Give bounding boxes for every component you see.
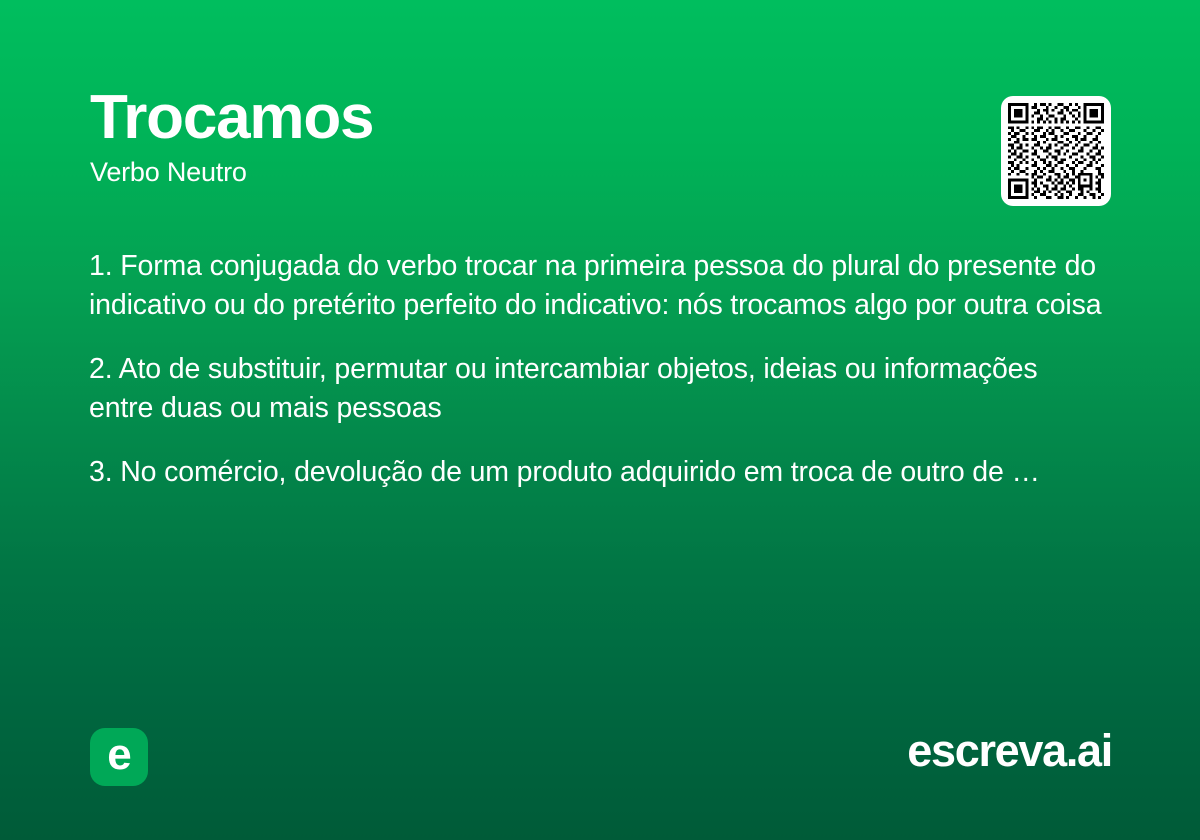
definition-item-2: 2. Ato de substituir, permutar ou interc… [89,350,1105,428]
qr-code-icon [1008,103,1104,199]
brand-wordmark: escreva.ai [907,724,1112,778]
escreva-logo-badge: e [90,728,148,786]
word-class-label: Verbo Neutro [90,158,1110,188]
dictionary-card: Trocamos Verbo Neutro [0,0,1200,840]
definition-list: 1. Forma conjugada do verbo trocar na pr… [89,247,1105,492]
definition-item-3: 3. No comércio, devolução de um produto … [89,453,1105,492]
card-footer: e escreva.ai [0,710,1200,840]
definition-item-1: 1. Forma conjugada do verbo trocar na pr… [89,247,1105,325]
card-header: Trocamos Verbo Neutro [90,86,1110,188]
page-title: Trocamos [90,86,1110,149]
logo-letter-icon: e [107,733,130,777]
qr-code-container[interactable] [1001,96,1111,206]
